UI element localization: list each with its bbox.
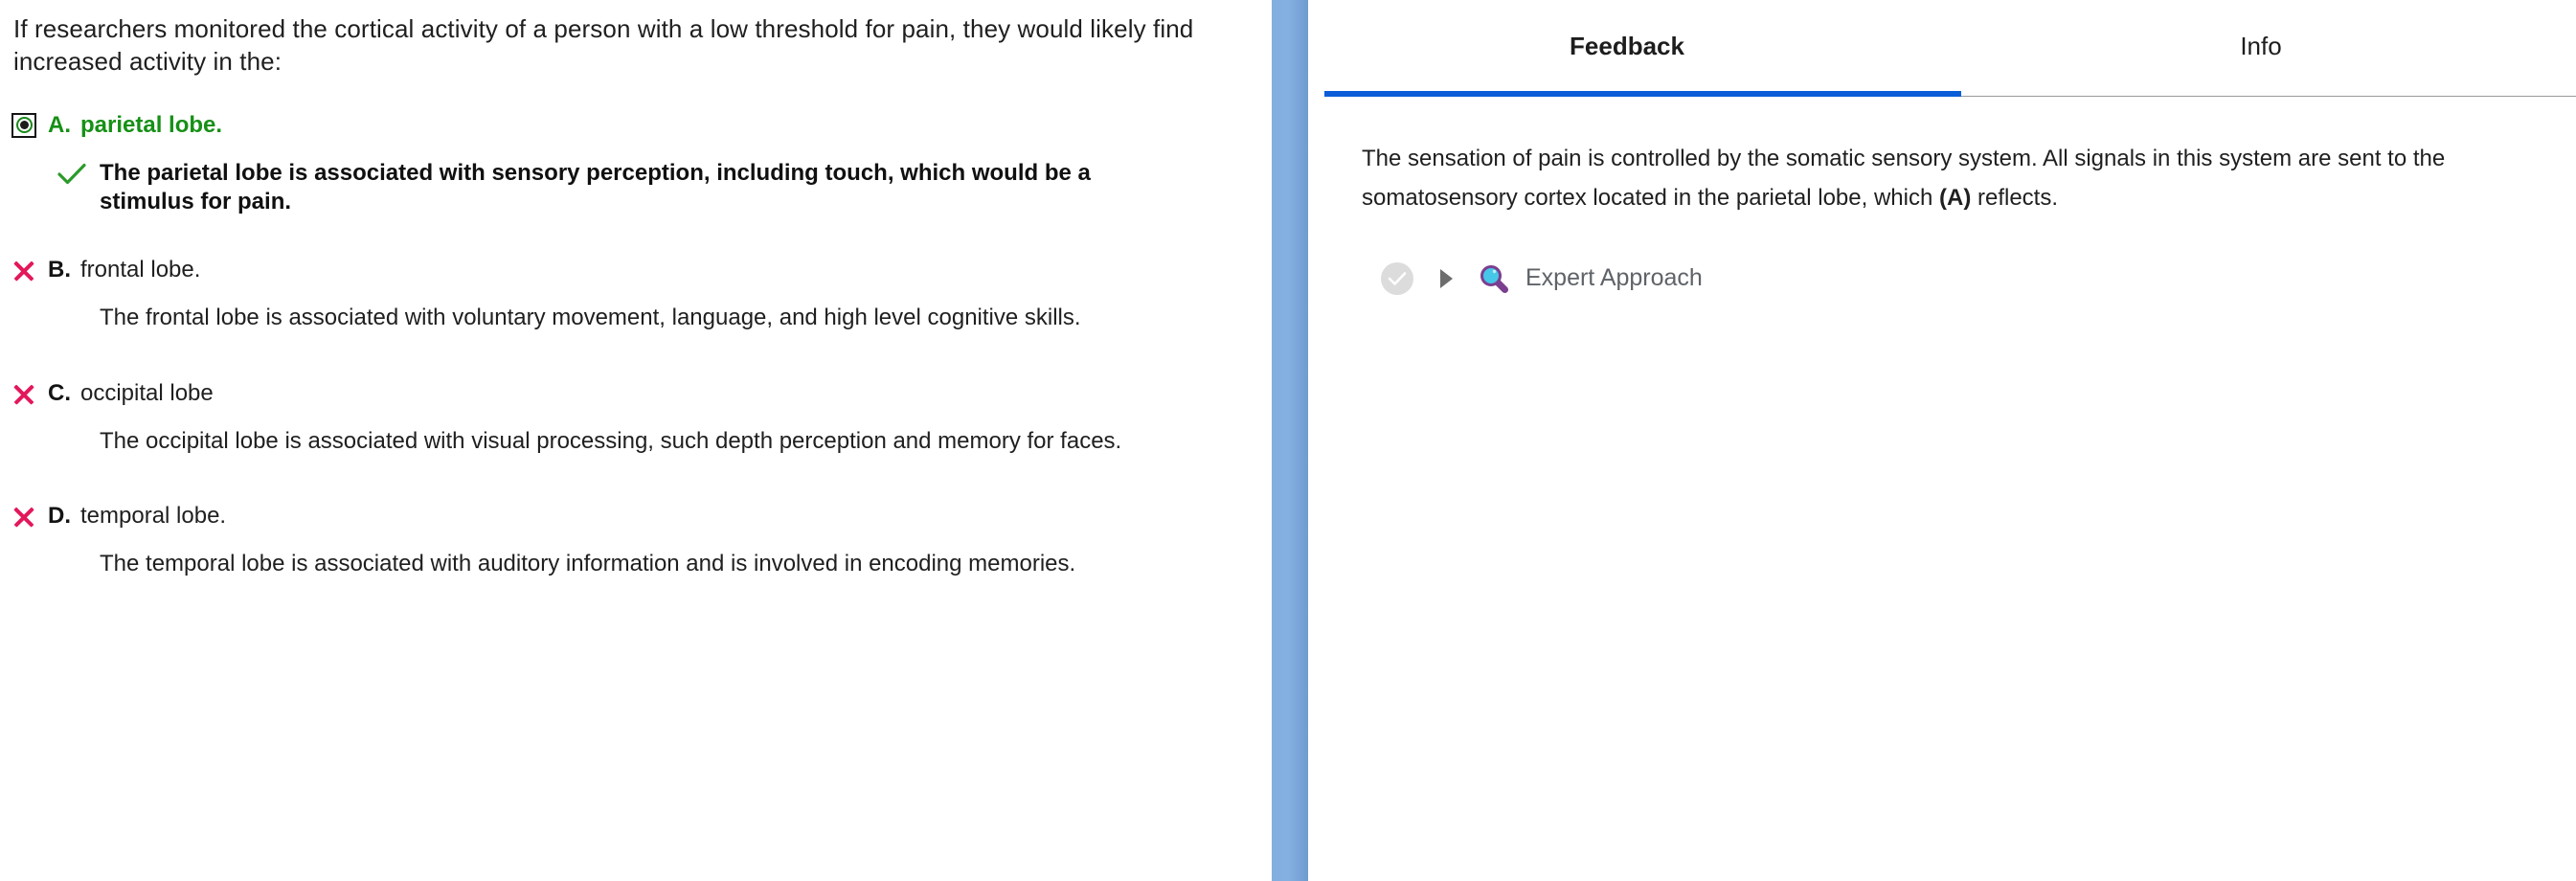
option-c-header[interactable]: C. occipital lobe	[0, 379, 1272, 412]
option-c-text: occipital lobe	[80, 379, 214, 408]
option-a-letter: A.	[48, 111, 80, 140]
option-c-rationale: The occipital lobe is associated with vi…	[100, 427, 1143, 457]
option-a-text: parietal lobe.	[80, 111, 222, 140]
tab-info[interactable]: Info	[1946, 0, 2576, 92]
expert-approach-row[interactable]: Expert Approach	[1362, 262, 2534, 295]
option-c-letter: C.	[48, 379, 80, 408]
option-a-rationale-marker	[57, 159, 100, 187]
radio-selected-icon[interactable]	[11, 113, 36, 138]
feedback-paragraph: The sensation of pain is controlled by t…	[1362, 140, 2535, 218]
option-a-rationale-row: The parietal lobe is associated with sen…	[0, 159, 1272, 217]
radio-ring	[16, 117, 33, 133]
tab-underline	[1324, 91, 2576, 97]
feedback-text-part2: reflects.	[1971, 185, 2058, 211]
green-check-icon	[57, 162, 86, 187]
expert-approach-label[interactable]: Expert Approach	[1525, 266, 1703, 290]
option-a[interactable]: A. parietal lobe. The parietal lobe is a…	[0, 111, 1272, 217]
option-b-rationale: The frontal lobe is associated with volu…	[100, 304, 1143, 333]
feedback-text-part1: The sensation of pain is controlled by t…	[1362, 146, 2445, 211]
option-c-rationale-row: The occipital lobe is associated with vi…	[0, 427, 1272, 457]
magnifier-icon	[1478, 262, 1510, 295]
pane-divider	[1272, 0, 1308, 881]
tab-feedback[interactable]: Feedback	[1308, 0, 1946, 92]
tab-active-indicator	[1324, 91, 1961, 97]
check-glyph	[1387, 269, 1408, 288]
option-b-text: frontal lobe.	[80, 256, 200, 284]
feedback-answer-ref: (A)	[1939, 185, 1971, 211]
feedback-pane: Feedback Info The sensation of pain is c…	[1308, 0, 2576, 881]
option-b[interactable]: B. frontal lobe. The frontal lobe is ass…	[0, 256, 1272, 333]
option-d-marker	[11, 502, 48, 530]
option-d-header[interactable]: D. temporal lobe.	[0, 502, 1272, 534]
question-pane: If researchers monitored the cortical ac…	[0, 0, 1272, 881]
feedback-body: The sensation of pain is controlled by t…	[1308, 92, 2576, 295]
option-a-header[interactable]: A. parietal lobe.	[0, 111, 1272, 144]
option-c[interactable]: C. occipital lobe The occipital lobe is …	[0, 379, 1272, 457]
option-b-header[interactable]: B. frontal lobe.	[0, 256, 1272, 288]
radio-dot	[20, 121, 29, 129]
tab-inactive-rule	[1961, 90, 2576, 97]
triangle-right-icon[interactable]	[1440, 269, 1453, 288]
option-b-marker	[11, 256, 48, 283]
grey-check-circle-icon	[1381, 262, 1413, 295]
question-review-screen: If researchers monitored the cortical ac…	[0, 0, 2576, 881]
option-a-rationale: The parietal lobe is associated with sen…	[100, 159, 1143, 217]
option-d[interactable]: D. temporal lobe. The temporal lobe is a…	[0, 502, 1272, 579]
option-a-marker	[11, 111, 48, 138]
option-d-rationale-row: The temporal lobe is associated with aud…	[0, 550, 1272, 579]
tab-bar: Feedback Info	[1308, 0, 2576, 92]
options-list: A. parietal lobe. The parietal lobe is a…	[0, 111, 1272, 580]
red-x-icon	[11, 259, 36, 283]
option-d-rationale: The temporal lobe is associated with aud…	[100, 550, 1143, 579]
option-b-rationale-row: The frontal lobe is associated with volu…	[0, 304, 1272, 333]
red-x-icon	[11, 382, 36, 407]
red-x-icon	[11, 505, 36, 530]
option-b-letter: B.	[48, 256, 80, 284]
option-d-letter: D.	[48, 502, 80, 531]
question-stem: If researchers monitored the cortical ac…	[13, 13, 1230, 79]
option-c-marker	[11, 379, 48, 407]
option-d-text: temporal lobe.	[80, 502, 226, 531]
